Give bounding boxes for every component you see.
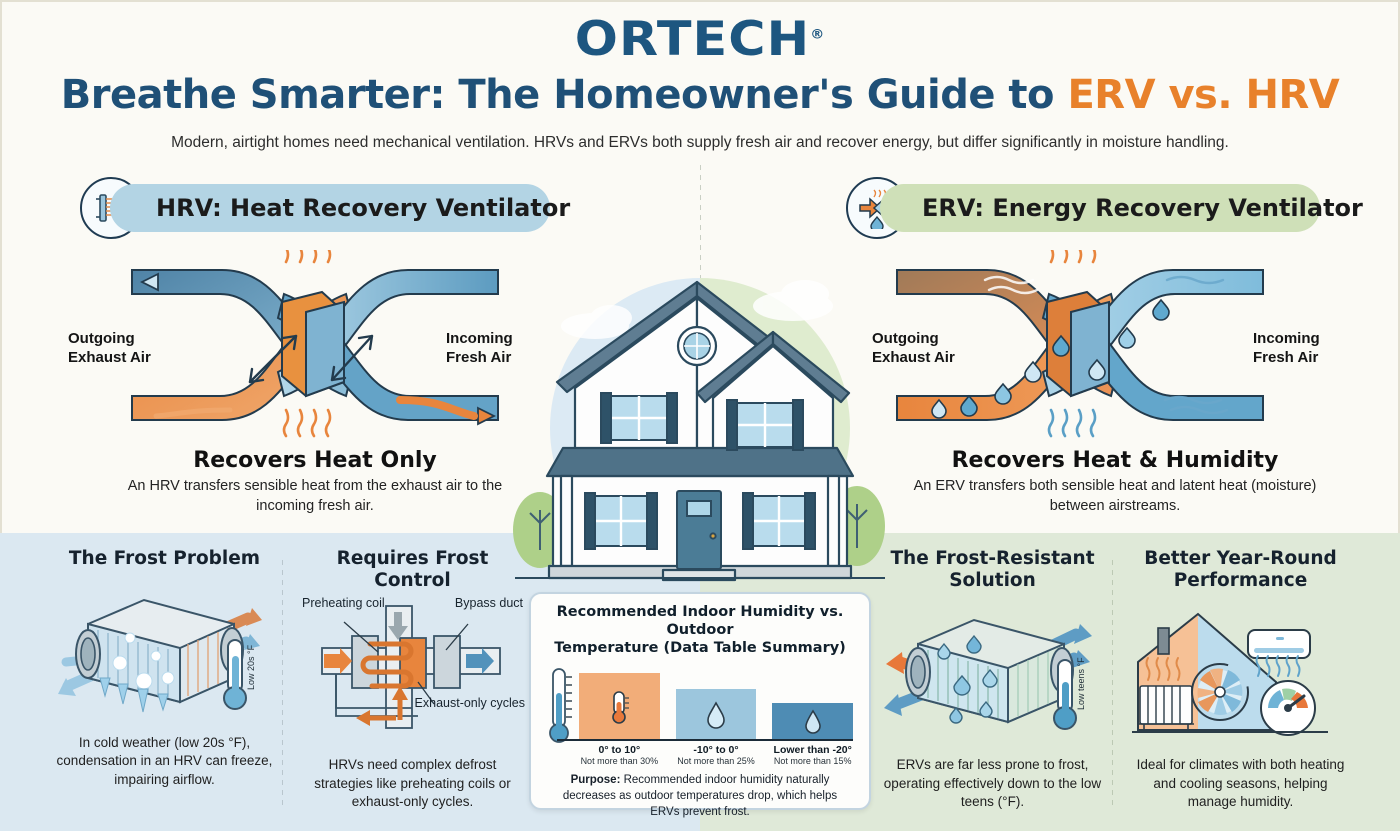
hrv-headline: Recovers Heat Only [105, 448, 525, 473]
erv-panel-divider [1112, 560, 1113, 810]
water-drop-icon [705, 701, 727, 729]
panel-frost-control-title: Requires Frost Control [300, 548, 525, 592]
erv-summary: Recovers Heat & Humidity An ERV transfer… [905, 448, 1325, 516]
defrost-schematic-illustration: Preheating coil Bypass duct Exhaust-only… [300, 600, 525, 750]
erv-core-illustration: Low teens °F [880, 600, 1105, 750]
chart-tick-labels: 0° to 10° Not more than 30% -10° to 0° N… [579, 744, 853, 766]
erv-outgoing-label: Outgoing Exhaust Air [872, 330, 955, 368]
reference-thermometer-icon [547, 667, 573, 747]
erv-section-header: ERV: Energy Recovery Ventilator [880, 184, 1320, 232]
infographic-page: ORTECH® Breathe Smarter: The Homeowner's… [0, 0, 1400, 831]
house-illustration [505, 248, 895, 588]
hrv-incoming-label: Incoming Fresh Air [446, 330, 513, 368]
page-subtitle: Modern, airtight homes need mechanical v… [0, 134, 1400, 152]
hrv-panel-divider [282, 560, 283, 810]
humidity-data-card: Recommended Indoor Humidity vs. Outdoor … [529, 592, 871, 810]
callout-bypass-duct: Bypass duct [455, 596, 523, 610]
frost-core-illustration: Low 20s °F [52, 578, 277, 728]
hrv-section-label: HRV: Heat Recovery Ventilator [110, 194, 570, 222]
page-title-main: Breathe Smarter: The Homeowner's Guide t… [61, 72, 1068, 118]
chart-purpose-note: Purpose: Recommended indoor humidity nat… [531, 766, 869, 821]
callout-preheating-coil: Preheating coil [302, 596, 385, 610]
thermometer-icon [608, 690, 630, 724]
panel-frost-resistant-caption: ERVs are far less prone to frost, operat… [880, 756, 1105, 811]
erv-thermometer-label: Low teens °F [1076, 657, 1086, 710]
erv-headline: Recovers Heat & Humidity [905, 448, 1325, 473]
panel-frost-resistant: The Frost-Resistant Solution [880, 548, 1105, 811]
page-title: Breathe Smarter: The Homeowner's Guide t… [0, 72, 1400, 118]
frost-thermometer-label: Low 20s °F [246, 645, 256, 691]
hrv-body: An HRV transfers sensible heat from the … [105, 477, 525, 516]
tick-0: 0° to 10° Not more than 30% [579, 744, 660, 766]
panel-frost-resistant-title: The Frost-Resistant Solution [880, 548, 1105, 592]
brand-logo: ORTECH® [0, 12, 1400, 66]
erv-section-label: ERV: Energy Recovery Ventilator [880, 194, 1363, 222]
erv-body: An ERV transfers both sensible heat and … [905, 477, 1325, 516]
trademark-symbol: ® [810, 27, 825, 42]
panel-frost-problem-title: The Frost Problem [52, 548, 277, 570]
chart-bars [579, 665, 853, 741]
brand-name: ORTECH [575, 12, 810, 67]
hrv-summary: Recovers Heat Only An HRV transfers sens… [105, 448, 525, 516]
panel-year-round: Better Year-Round Performance [1128, 548, 1353, 811]
chart-axis [557, 739, 853, 741]
purpose-label: Purpose: [571, 774, 621, 786]
callout-exhaust-only-cycles: Exhaust-only cycles [415, 696, 525, 710]
panel-frost-problem-caption: In cold weather (low 20s °F), condensati… [52, 734, 277, 789]
tick-1: -10° to 0° Not more than 25% [676, 744, 757, 766]
year-round-illustration [1128, 600, 1353, 750]
humidity-bar-chart [547, 663, 853, 741]
panel-year-round-caption: Ideal for climates with both heating and… [1128, 756, 1353, 811]
bar-2 [772, 703, 853, 741]
panel-frost-control: Requires Frost Control [300, 548, 525, 811]
bar-0 [579, 673, 660, 741]
chart-title: Recommended Indoor Humidity vs. Outdoor … [531, 594, 869, 657]
water-drop-icon [803, 709, 823, 735]
panel-frost-control-caption: HRVs need complex defrost strategies lik… [300, 756, 525, 811]
panel-year-round-title: Better Year-Round Performance [1128, 548, 1353, 592]
tick-2: Lower than -20° Not more than 15% [772, 744, 853, 766]
erv-incoming-label: Incoming Fresh Air [1253, 330, 1320, 368]
hrv-section-header: HRV: Heat Recovery Ventilator [110, 184, 550, 232]
bar-1 [676, 689, 757, 741]
panel-frost-problem: The Frost Problem [52, 548, 277, 789]
page-title-accent: ERV vs. HRV [1067, 72, 1339, 118]
hrv-outgoing-label: Outgoing Exhaust Air [68, 330, 151, 368]
